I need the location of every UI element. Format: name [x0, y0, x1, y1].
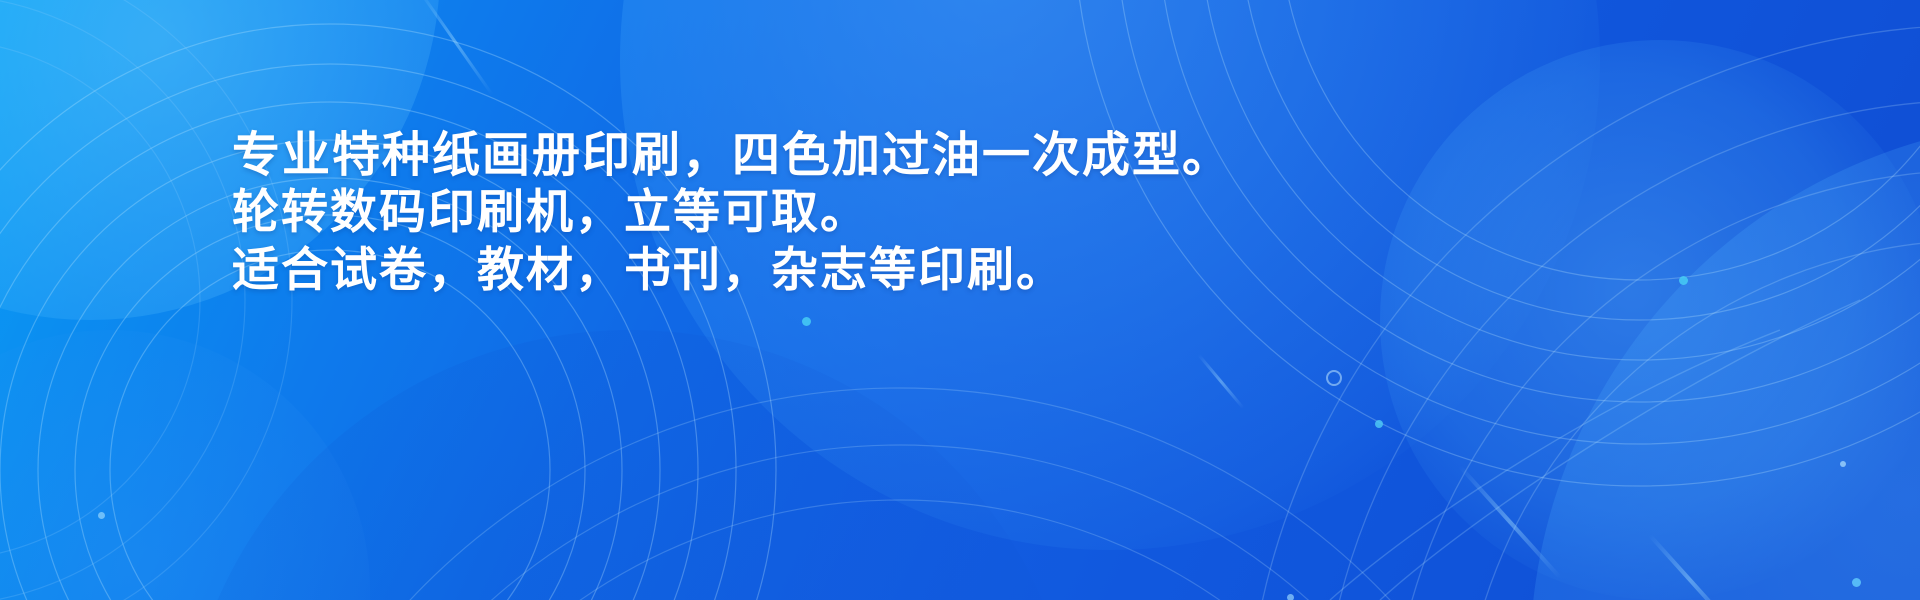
accent-dot — [1852, 578, 1861, 587]
accent-dot — [1840, 461, 1846, 467]
arc-lines-decoration — [0, 0, 1920, 600]
headline-block: 专业特种纸画册印刷，四色加过油一次成型。 轮转数码印刷机，立等可取。 适合试卷，… — [232, 126, 1632, 300]
background-blob-bottom-left — [0, 330, 370, 600]
background-blob-mid-right — [1380, 40, 1920, 600]
background-blob-shadow-wedge — [180, 330, 1080, 600]
light-streak — [1648, 534, 1731, 600]
promo-banner: 专业特种纸画册印刷，四色加过油一次成型。 轮转数码印刷机，立等可取。 适合试卷，… — [0, 0, 1920, 600]
light-streak — [1458, 465, 1561, 579]
accent-dot — [1679, 276, 1688, 285]
accent-dot — [1287, 594, 1294, 600]
accent-dot — [1375, 420, 1383, 428]
headline-line-1: 专业特种纸画册印刷，四色加过油一次成型。 — [232, 126, 1632, 184]
accent-dot-ring — [1326, 370, 1342, 386]
light-streak — [1197, 354, 1244, 410]
accent-dot — [98, 512, 105, 519]
accent-dot — [802, 317, 811, 326]
light-streak — [416, 0, 493, 96]
headline-line-2: 轮转数码印刷机，立等可取。 — [232, 184, 1632, 242]
headline-line-3: 适合试卷，教材，书刊，杂志等印刷。 — [232, 242, 1632, 300]
